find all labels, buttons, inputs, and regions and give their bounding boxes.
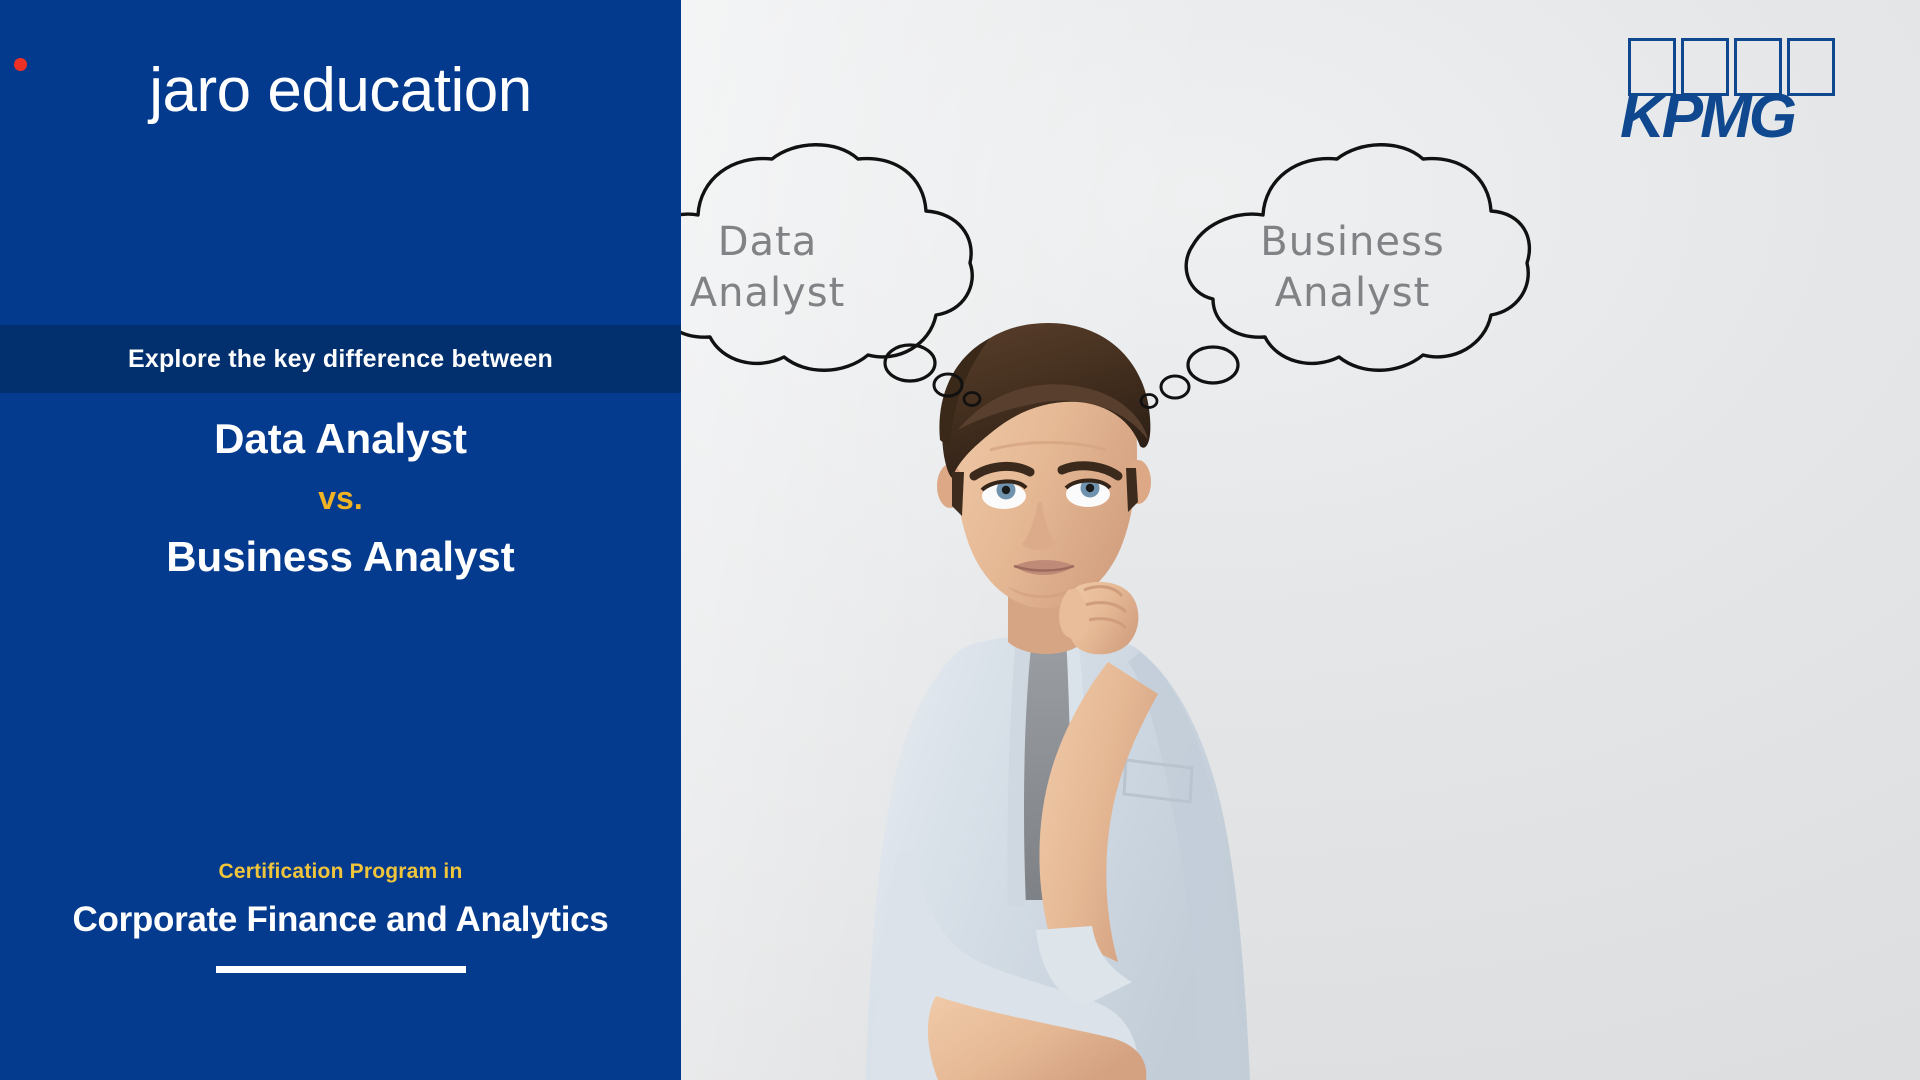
explore-band-text: Explore the key difference between: [128, 345, 553, 374]
panel-top-region: [0, 0, 681, 325]
certification-eyebrow: Certification Program in: [0, 860, 681, 884]
certification-underline: [216, 966, 466, 973]
headline-business-analyst: Business Analyst: [0, 536, 681, 578]
headline-vs: vs.: [0, 482, 681, 514]
headline-data-analyst: Data Analyst: [0, 418, 681, 460]
kpmg-wordmark: KPMG: [1620, 86, 1845, 148]
thought-bubble-business-analyst: Business Analyst: [1135, 145, 1535, 395]
headline-block: Data Analyst vs. Business Analyst: [0, 418, 681, 578]
thinking-man-photo: [840, 290, 1280, 1080]
explore-band: Explore the key difference between: [0, 325, 681, 393]
bubble-right-line1: Business: [1165, 217, 1540, 268]
bubble-right-line2: Analyst: [1165, 268, 1540, 319]
left-blue-panel: jaro education Explore the key differenc…: [0, 0, 681, 1080]
jaro-logo-red-dot-icon: [14, 58, 27, 71]
slide-canvas: Data Analyst Business Analyst KPMG jaro: [0, 0, 1920, 1080]
jaro-education-logo[interactable]: jaro education: [0, 60, 681, 122]
jaro-logo-text: jaro education: [149, 60, 532, 122]
kpmg-logo: KPMG: [1620, 38, 1845, 143]
certification-title: Corporate Finance and Analytics: [0, 900, 681, 940]
bubble-right-label: Business Analyst: [1165, 217, 1540, 319]
certification-block: Certification Program in Corporate Finan…: [0, 860, 681, 973]
